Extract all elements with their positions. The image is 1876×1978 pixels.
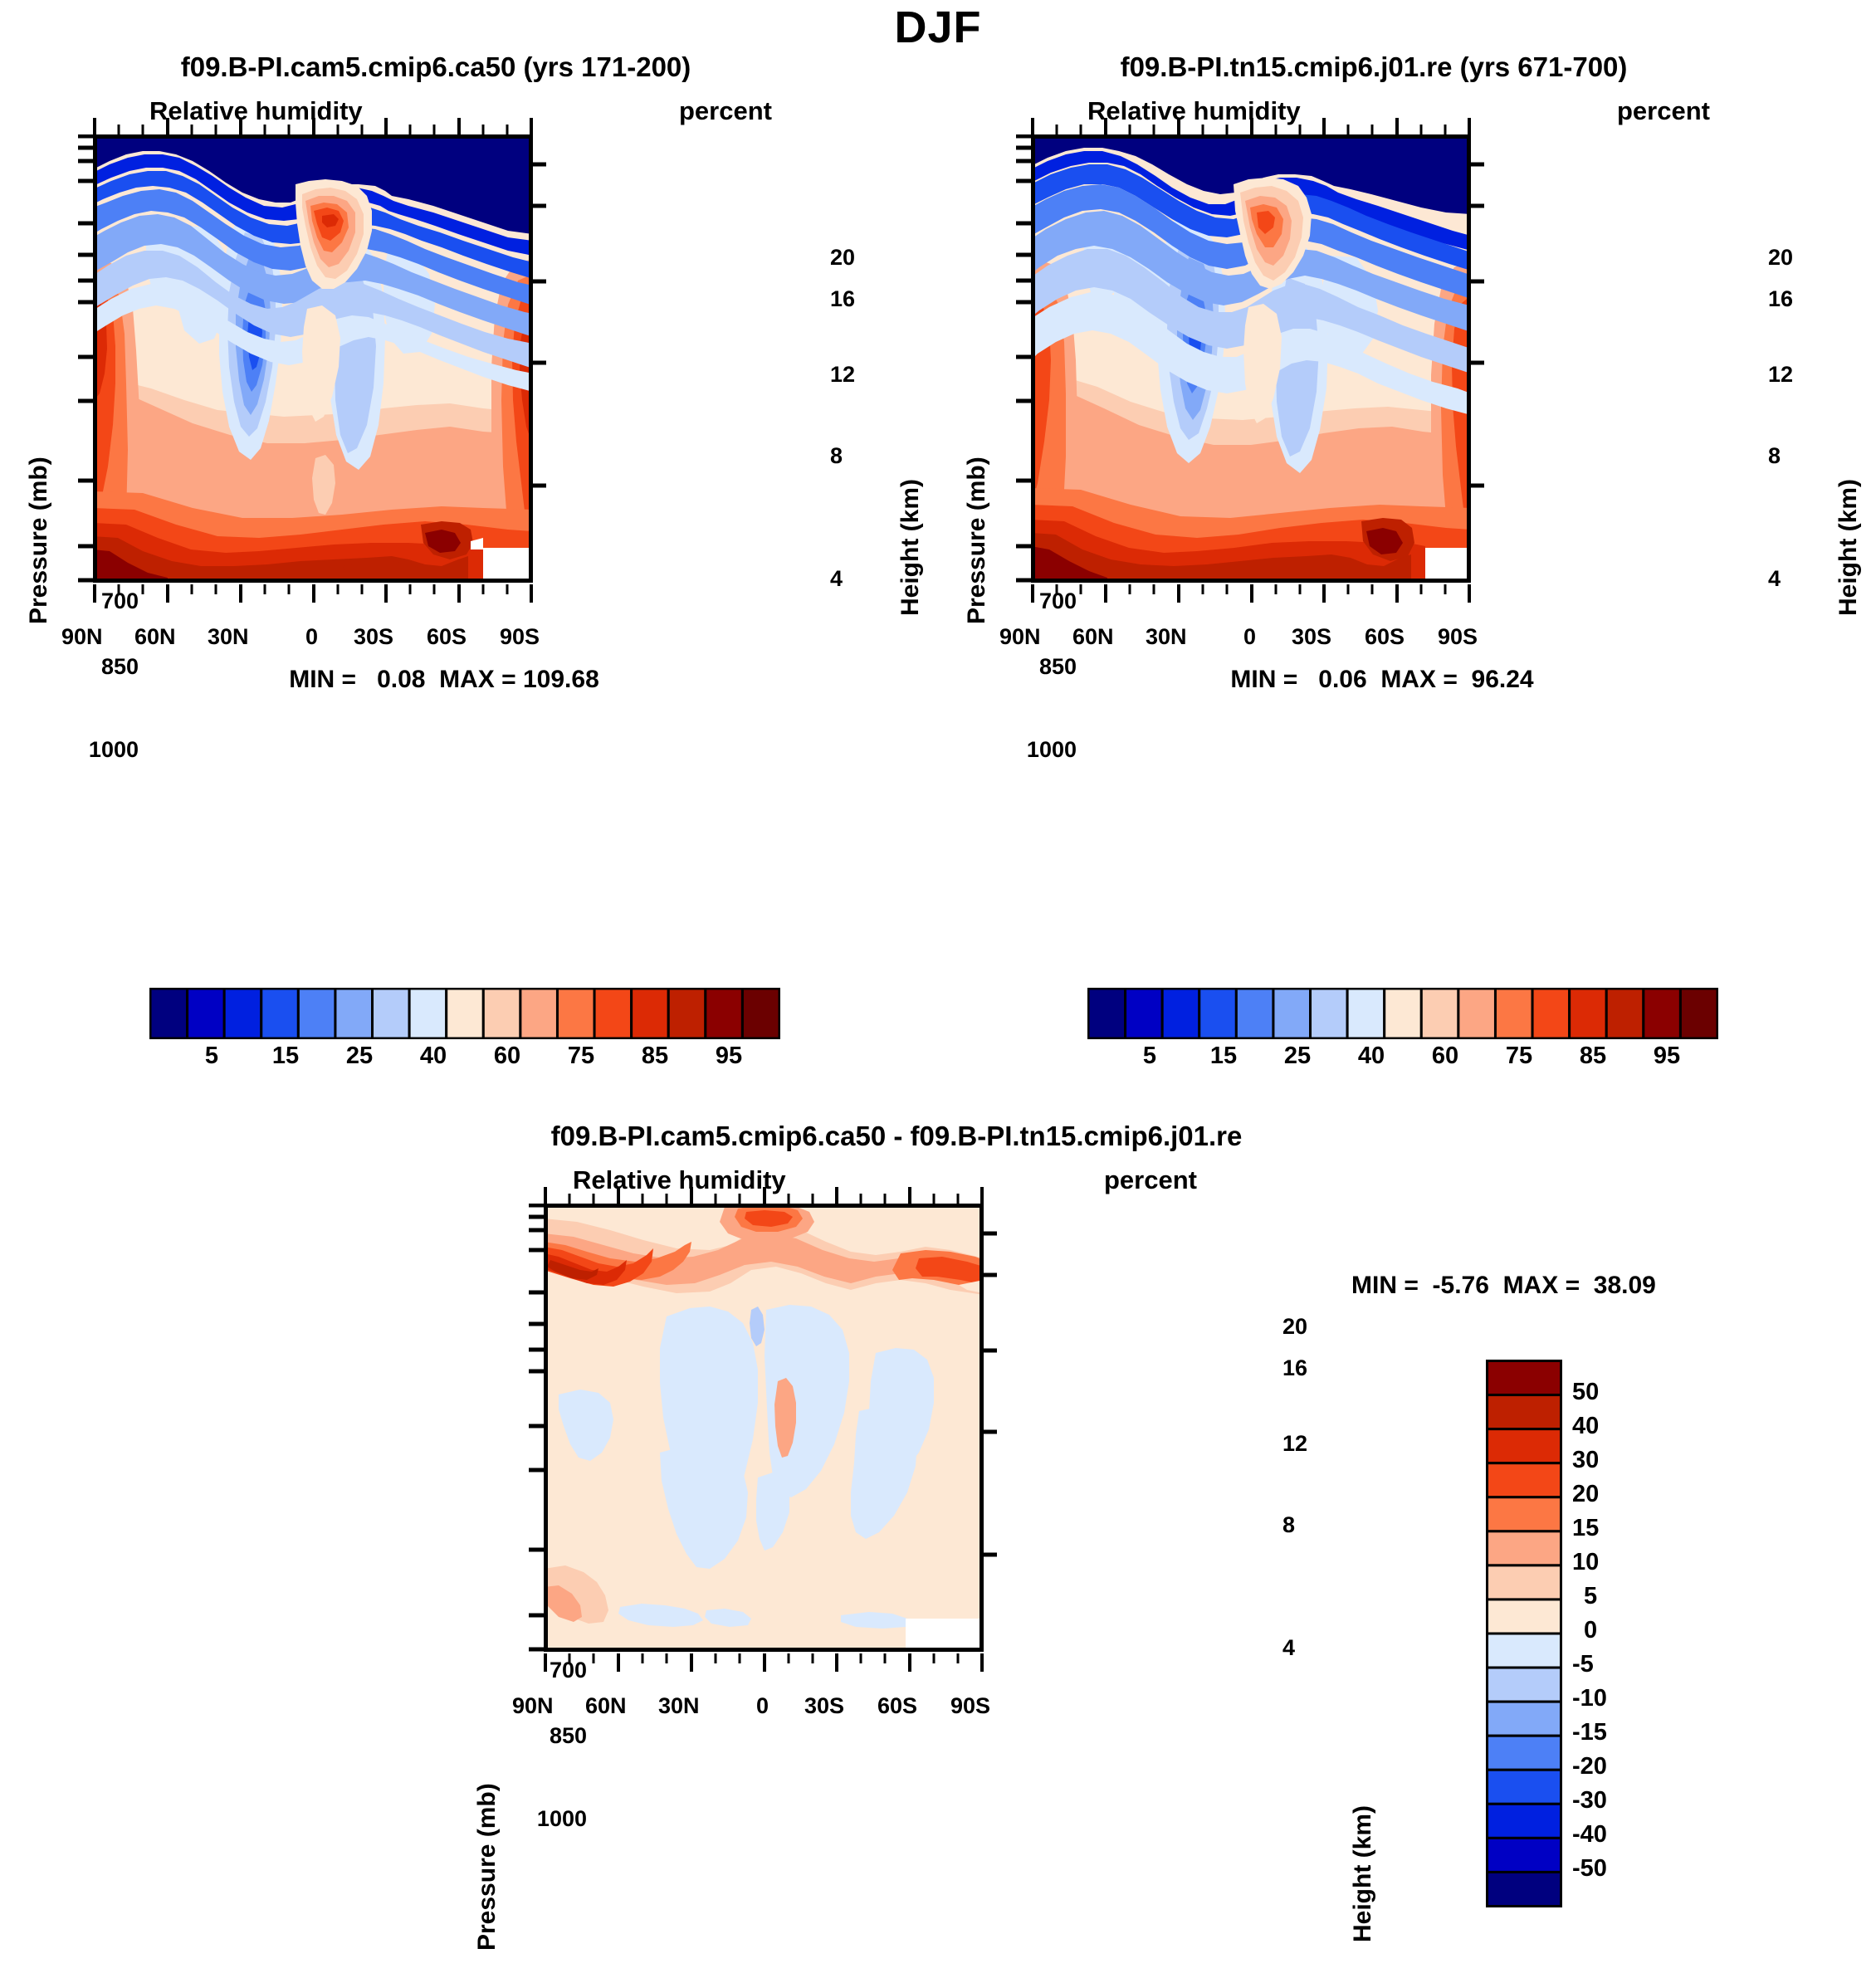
panel-top-right-units: percent: [1617, 96, 1710, 126]
xtick-90S: 90S: [950, 1693, 990, 1719]
cbar-label-40: 40: [1346, 1043, 1396, 1070]
xtick-30N: 30N: [658, 1693, 700, 1719]
ytick-850: 850: [550, 1723, 587, 1749]
panel-top-right-minmax: MIN = 0.06 MAX = 96.24: [938, 666, 1826, 694]
cbar-label-85: 85: [1568, 1043, 1618, 1070]
xtick-0: 0: [305, 624, 318, 650]
colorbar-absolute-left-swatches[interactable]: [149, 988, 780, 1039]
cbar-label-75: 75: [556, 1043, 606, 1070]
panel-bottom-plot[interactable]: [544, 1204, 984, 1652]
y2tick-4: 4: [1768, 566, 1781, 592]
cbar-label-15: 15: [261, 1043, 310, 1070]
panel-top-left-right-ticks: [531, 134, 548, 583]
cbar-label-60: 60: [1420, 1043, 1470, 1070]
xtick-60S: 60S: [877, 1693, 917, 1719]
cbar-diff-label-neg10: -10: [1572, 1685, 1607, 1712]
panel-top-left-top-ticks: [93, 118, 533, 136]
cbar-diff-label-20: 20: [1572, 1481, 1599, 1508]
cbar-diff-label-50: 50: [1572, 1379, 1599, 1406]
cbar-diff-label-5: 5: [1584, 1583, 1597, 1610]
ytick-1000: 1000: [89, 737, 139, 763]
cbar-label-25: 25: [1273, 1043, 1322, 1070]
panel-bottom-minmax: MIN = -5.76 MAX = 38.09: [1351, 1272, 1656, 1300]
panel-top-left-left-ticks: [76, 134, 93, 583]
xtick-90N: 90N: [61, 624, 103, 650]
panel-top-left-yaxis-label: Pressure (mb): [25, 457, 53, 624]
y2tick-16: 16: [1768, 286, 1793, 312]
y2tick-12: 12: [1768, 362, 1793, 388]
colorbar-absolute-left-labels: 5 15 25 40 60 75 85 95: [149, 1043, 780, 1076]
xtick-60N: 60N: [134, 624, 176, 650]
panel-bottom-yaxis-label: Pressure (mb): [473, 1783, 501, 1951]
xtick-30N: 30N: [208, 624, 249, 650]
colorbar-difference-swatches[interactable]: [1486, 1360, 1562, 1907]
panel-bottom-top-ticks: [544, 1187, 984, 1205]
y2tick-16: 16: [830, 286, 855, 312]
cbar-label-5: 5: [187, 1043, 237, 1070]
panel-bottom-units: percent: [1104, 1165, 1197, 1195]
panel-top-right-top-ticks: [1031, 118, 1471, 136]
xtick-60N: 60N: [1072, 624, 1114, 650]
y2tick-16: 16: [1282, 1355, 1307, 1381]
xtick-60S: 60S: [427, 624, 467, 650]
xtick-0: 0: [1243, 624, 1256, 650]
panel-bottom-diff: f09.B-PI.cam5.cmip6.ca50 - f09.B-PI.tn15…: [0, 1121, 1876, 1978]
cbar-label-95: 95: [704, 1043, 754, 1070]
y2tick-20: 20: [1768, 245, 1793, 271]
y2tick-8: 8: [1282, 1512, 1295, 1538]
cbar-label-25: 25: [335, 1043, 384, 1070]
colorbar-difference-labels: 50 40 30 20 15 10 5 0 -5 -10 -15 -20 -30…: [1572, 1360, 1672, 1907]
panel-top-right-yaxis-label: Pressure (mb): [963, 457, 991, 624]
colorbar-absolute-right[interactable]: 5 15 25 40 60 75 85 95: [1087, 988, 1718, 1039]
panel-top-left-plot[interactable]: [93, 134, 533, 583]
cbar-diff-label-neg5: -5: [1572, 1651, 1594, 1678]
xtick-90S: 90S: [1438, 624, 1478, 650]
colorbar-difference[interactable]: 50 40 30 20 15 10 5 0 -5 -10 -15 -20 -30…: [1486, 1360, 1562, 1907]
y2tick-20: 20: [830, 245, 855, 271]
y2tick-20: 20: [1282, 1314, 1307, 1340]
colorbar-absolute-right-labels: 5 15 25 40 60 75 85 95: [1087, 1043, 1718, 1076]
panel-top-left-bottom-ticks: [93, 583, 533, 604]
cbar-label-5: 5: [1125, 1043, 1175, 1070]
cbar-label-85: 85: [630, 1043, 680, 1070]
panel-top-left-title: f09.B-PI.cam5.cmip6.ca50 (yrs 171-200): [0, 51, 872, 83]
cbar-label-15: 15: [1199, 1043, 1248, 1070]
y2tick-8: 8: [1768, 443, 1781, 469]
panel-bottom-title: f09.B-PI.cam5.cmip6.ca50 - f09.B-PI.tn15…: [0, 1121, 1793, 1152]
panel-bottom-left-ticks: [527, 1204, 544, 1652]
cbar-diff-label-0: 0: [1584, 1617, 1597, 1644]
cbar-diff-label-neg50: -50: [1572, 1855, 1607, 1883]
xtick-30S: 30S: [354, 624, 393, 650]
xtick-60N: 60N: [585, 1693, 627, 1719]
panel-top-left: f09.B-PI.cam5.cmip6.ca50 (yrs 171-200) R…: [0, 51, 938, 890]
panel-top-right-plot[interactable]: [1031, 134, 1471, 583]
panel-top-right-bottom-ticks: [1031, 583, 1471, 604]
cbar-diff-label-10: 10: [1572, 1549, 1599, 1576]
xtick-60S: 60S: [1365, 624, 1405, 650]
xtick-0: 0: [756, 1693, 769, 1719]
xtick-30S: 30S: [804, 1693, 844, 1719]
panel-bottom-right-ticks: [982, 1204, 999, 1652]
panel-top-right-left-ticks: [1014, 134, 1031, 583]
ytick-1000: 1000: [537, 1806, 587, 1832]
xtick-30N: 30N: [1146, 624, 1187, 650]
panel-bottom-y2axis-label: Height (km): [1349, 1805, 1377, 1942]
panel-top-left-minmax: MIN = 0.08 MAX = 109.68: [0, 666, 888, 694]
page-title: DJF: [0, 2, 1876, 53]
panel-bottom-bottom-ticks: [544, 1652, 984, 1673]
cbar-label-95: 95: [1642, 1043, 1692, 1070]
colorbar-absolute-left[interactable]: 5 15 25 40 60 75 85 95: [149, 988, 780, 1039]
y2tick-4: 4: [830, 566, 843, 592]
xtick-30S: 30S: [1292, 624, 1331, 650]
cbar-diff-label-neg20: -20: [1572, 1753, 1607, 1780]
xtick-90N: 90N: [512, 1693, 554, 1719]
y2tick-12: 12: [830, 362, 855, 388]
panel-top-right-y2axis-label: Height (km): [1834, 479, 1863, 616]
xtick-90S: 90S: [500, 624, 540, 650]
y2tick-8: 8: [830, 443, 843, 469]
cbar-diff-label-40: 40: [1572, 1413, 1599, 1440]
y2tick-12: 12: [1282, 1431, 1307, 1457]
colorbar-absolute-right-swatches[interactable]: [1087, 988, 1718, 1039]
xtick-90N: 90N: [999, 624, 1041, 650]
panel-top-right-title: f09.B-PI.tn15.cmip6.j01.re (yrs 671-700): [938, 51, 1810, 83]
cbar-label-40: 40: [408, 1043, 458, 1070]
panel-top-left-y2axis-label: Height (km): [896, 479, 925, 616]
cbar-diff-label-neg15: -15: [1572, 1719, 1607, 1746]
panel-top-right-right-ticks: [1469, 134, 1486, 583]
cbar-diff-label-15: 15: [1572, 1515, 1599, 1542]
panel-top-right: f09.B-PI.tn15.cmip6.j01.re (yrs 671-700)…: [938, 51, 1876, 890]
cbar-label-75: 75: [1494, 1043, 1544, 1070]
cbar-diff-label-neg30: -30: [1572, 1787, 1607, 1814]
cbar-label-60: 60: [482, 1043, 532, 1070]
cbar-diff-label-neg40: -40: [1572, 1821, 1607, 1849]
y2tick-4: 4: [1282, 1635, 1295, 1661]
cbar-diff-label-30: 30: [1572, 1447, 1599, 1474]
panel-top-left-units: percent: [679, 96, 772, 126]
ytick-1000: 1000: [1027, 737, 1077, 763]
